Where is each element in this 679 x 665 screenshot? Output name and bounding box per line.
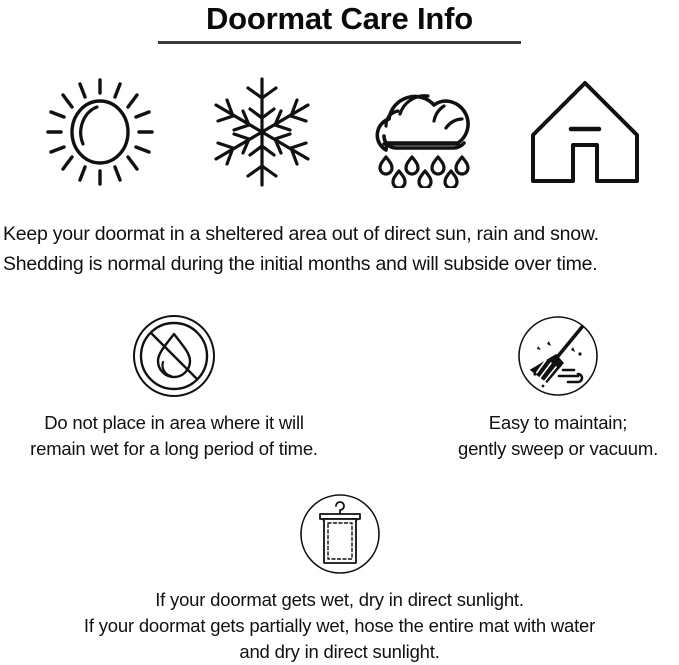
weather-icon-cell-snowflake bbox=[192, 72, 332, 192]
intro-line-2: Shedding is normal during the initial mo… bbox=[3, 249, 679, 279]
bottom-line-1: If your doormat gets wet, dry in direct … bbox=[0, 587, 679, 613]
broom-sweep-icon bbox=[516, 314, 600, 398]
care-right-line-1: Easy to maintain; bbox=[388, 410, 679, 436]
weather-icon-cell-rain-cloud bbox=[353, 72, 493, 192]
title-underline-rule bbox=[158, 41, 521, 44]
care-left-line-1: Do not place in area where it will bbox=[4, 410, 344, 436]
hanging-mat-dry-icon bbox=[298, 492, 382, 576]
sun-icon bbox=[45, 76, 155, 188]
page-title: Doormat Care Info bbox=[0, 0, 679, 37]
intro-paragraph: Keep your doormat in a sheltered area ou… bbox=[3, 219, 679, 279]
care-item-easy-maintain: Easy to maintain; gently sweep or vacuum… bbox=[388, 314, 679, 462]
care-text-no-standing-water: Do not place in area where it will remai… bbox=[4, 410, 344, 462]
care-text-easy-maintain: Easy to maintain; gently sweep or vacuum… bbox=[388, 410, 679, 462]
care-item-drying-instructions: If your doormat gets wet, dry in direct … bbox=[0, 492, 679, 665]
page-header: Doormat Care Info bbox=[0, 0, 679, 44]
drying-instructions-text: If your doormat gets wet, dry in direct … bbox=[0, 587, 679, 665]
no-water-icon bbox=[132, 314, 216, 398]
care-right-line-2: gently sweep or vacuum. bbox=[388, 436, 679, 462]
intro-line-1: Keep your doormat in a sheltered area ou… bbox=[3, 219, 679, 249]
bottom-line-3: and dry in direct sunlight. bbox=[0, 639, 679, 665]
snowflake-icon bbox=[212, 76, 312, 188]
care-item-no-standing-water: Do not place in area where it will remai… bbox=[4, 314, 344, 462]
weather-icon-row bbox=[0, 72, 679, 192]
care-left-line-2: remain wet for a long period of time. bbox=[4, 436, 344, 462]
bottom-line-2: If your doormat gets partially wet, hose… bbox=[0, 613, 679, 639]
weather-icon-cell-house bbox=[515, 72, 655, 192]
weather-icon-cell-sun bbox=[30, 72, 170, 192]
rain-cloud-icon bbox=[364, 76, 482, 188]
doormat-care-info-page: { "header": { "title": "Doormat Care Inf… bbox=[0, 0, 679, 655]
house-icon bbox=[529, 79, 641, 185]
